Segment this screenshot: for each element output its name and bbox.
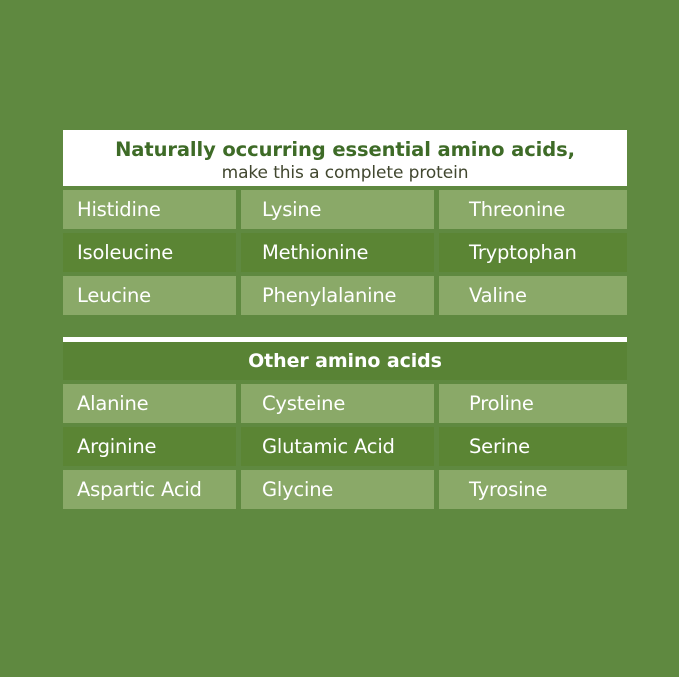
table-row: Arginine Glutamic Acid Serine (63, 427, 627, 466)
table-cell: Methionine (241, 233, 434, 272)
table-cell: Leucine (63, 276, 236, 315)
infographic-canvas: Naturally occurring essential amino acid… (0, 0, 679, 677)
table-cell: Phenylalanine (241, 276, 434, 315)
table-title: Naturally occurring essential amino acid… (73, 138, 617, 162)
table-row: Aspartic Acid Glycine Tyrosine (63, 470, 627, 509)
table-cell: Alanine (63, 384, 236, 423)
table-cell: Aspartic Acid (63, 470, 236, 509)
table-cell: Cysteine (241, 384, 434, 423)
table-header-green: Other amino acids (63, 342, 627, 380)
table-cell: Tryptophan (439, 233, 627, 272)
table-header-white: Naturally occurring essential amino acid… (63, 130, 627, 186)
table-cell: Serine (439, 427, 627, 466)
table-cell: Tyrosine (439, 470, 627, 509)
table-cell: Glycine (241, 470, 434, 509)
table-cell: Histidine (63, 190, 236, 229)
table-cell: Isoleucine (63, 233, 236, 272)
table-row: Leucine Phenylalanine Valine (63, 276, 627, 315)
table-cell: Arginine (63, 427, 236, 466)
table-row: Alanine Cysteine Proline (63, 384, 627, 423)
table-row: Isoleucine Methionine Tryptophan (63, 233, 627, 272)
table-essential-amino-acids: Naturally occurring essential amino acid… (63, 130, 627, 315)
table-cell: Proline (439, 384, 627, 423)
table-title: Other amino acids (248, 350, 442, 372)
table-cell: Glutamic Acid (241, 427, 434, 466)
table-cell: Valine (439, 276, 627, 315)
table-cell: Lysine (241, 190, 434, 229)
table-subtitle: make this a complete protein (73, 162, 617, 184)
table-cell: Threonine (439, 190, 627, 229)
table-other-amino-acids: Other amino acids Alanine Cysteine Proli… (63, 337, 627, 509)
table-row: Histidine Lysine Threonine (63, 190, 627, 229)
